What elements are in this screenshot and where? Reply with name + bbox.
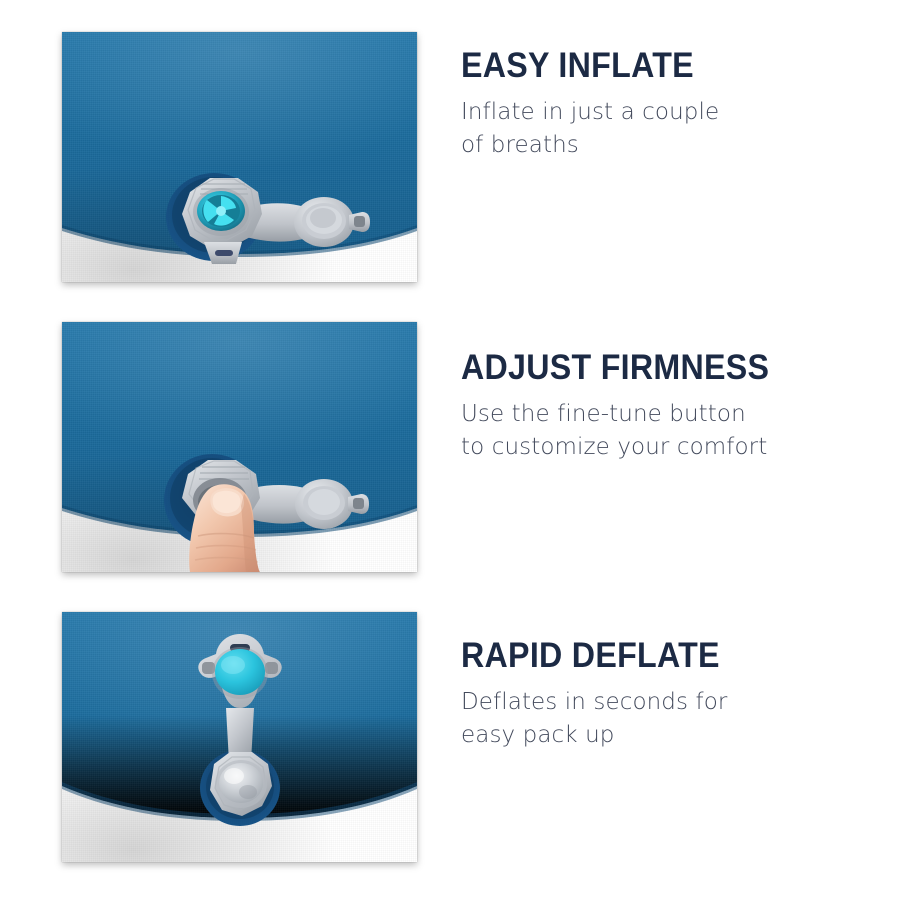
product-image-rapid-deflate bbox=[62, 612, 417, 862]
feature-description-line: to customize your comfort bbox=[461, 431, 860, 464]
feature-description-line: Deflates in seconds for bbox=[461, 686, 860, 719]
feature-text-adjust-firmness: ADJUST FIRMNESS Use the fine-tune button… bbox=[417, 290, 900, 463]
feature-title: EASY INFLATE bbox=[461, 48, 828, 83]
valve-assembly-open bbox=[62, 612, 417, 862]
feature-row-adjust-firmness: ADJUST FIRMNESS Use the fine-tune button… bbox=[0, 290, 900, 580]
feature-description-line: easy pack up bbox=[461, 719, 860, 752]
valve-assembly-closed bbox=[62, 32, 417, 282]
valve-assembly-pressed bbox=[62, 322, 417, 572]
feature-description-line: Use the fine-tune button bbox=[461, 398, 860, 431]
feature-description-line: Inflate in just a couple bbox=[461, 96, 860, 129]
feature-panel: EASY INFLATE Inflate in just a couple of… bbox=[0, 0, 900, 900]
feature-row-rapid-deflate: RAPID DEFLATE Deflates in seconds for ea… bbox=[0, 580, 900, 870]
feature-description-line: of breaths bbox=[461, 129, 860, 162]
feature-row-easy-inflate: EASY INFLATE Inflate in just a couple of… bbox=[0, 0, 900, 290]
feature-text-easy-inflate: EASY INFLATE Inflate in just a couple of… bbox=[417, 0, 900, 161]
product-image-adjust-firmness bbox=[62, 322, 417, 572]
feature-description: Use the fine-tune button to customize yo… bbox=[461, 398, 860, 463]
feature-text-rapid-deflate: RAPID DEFLATE Deflates in seconds for ea… bbox=[417, 580, 900, 751]
feature-description: Inflate in just a couple of breaths bbox=[461, 96, 860, 161]
feature-description: Deflates in seconds for easy pack up bbox=[461, 686, 860, 751]
product-image-easy-inflate bbox=[62, 32, 417, 282]
feature-title: RAPID DEFLATE bbox=[461, 638, 828, 673]
feature-title: ADJUST FIRMNESS bbox=[461, 350, 828, 385]
